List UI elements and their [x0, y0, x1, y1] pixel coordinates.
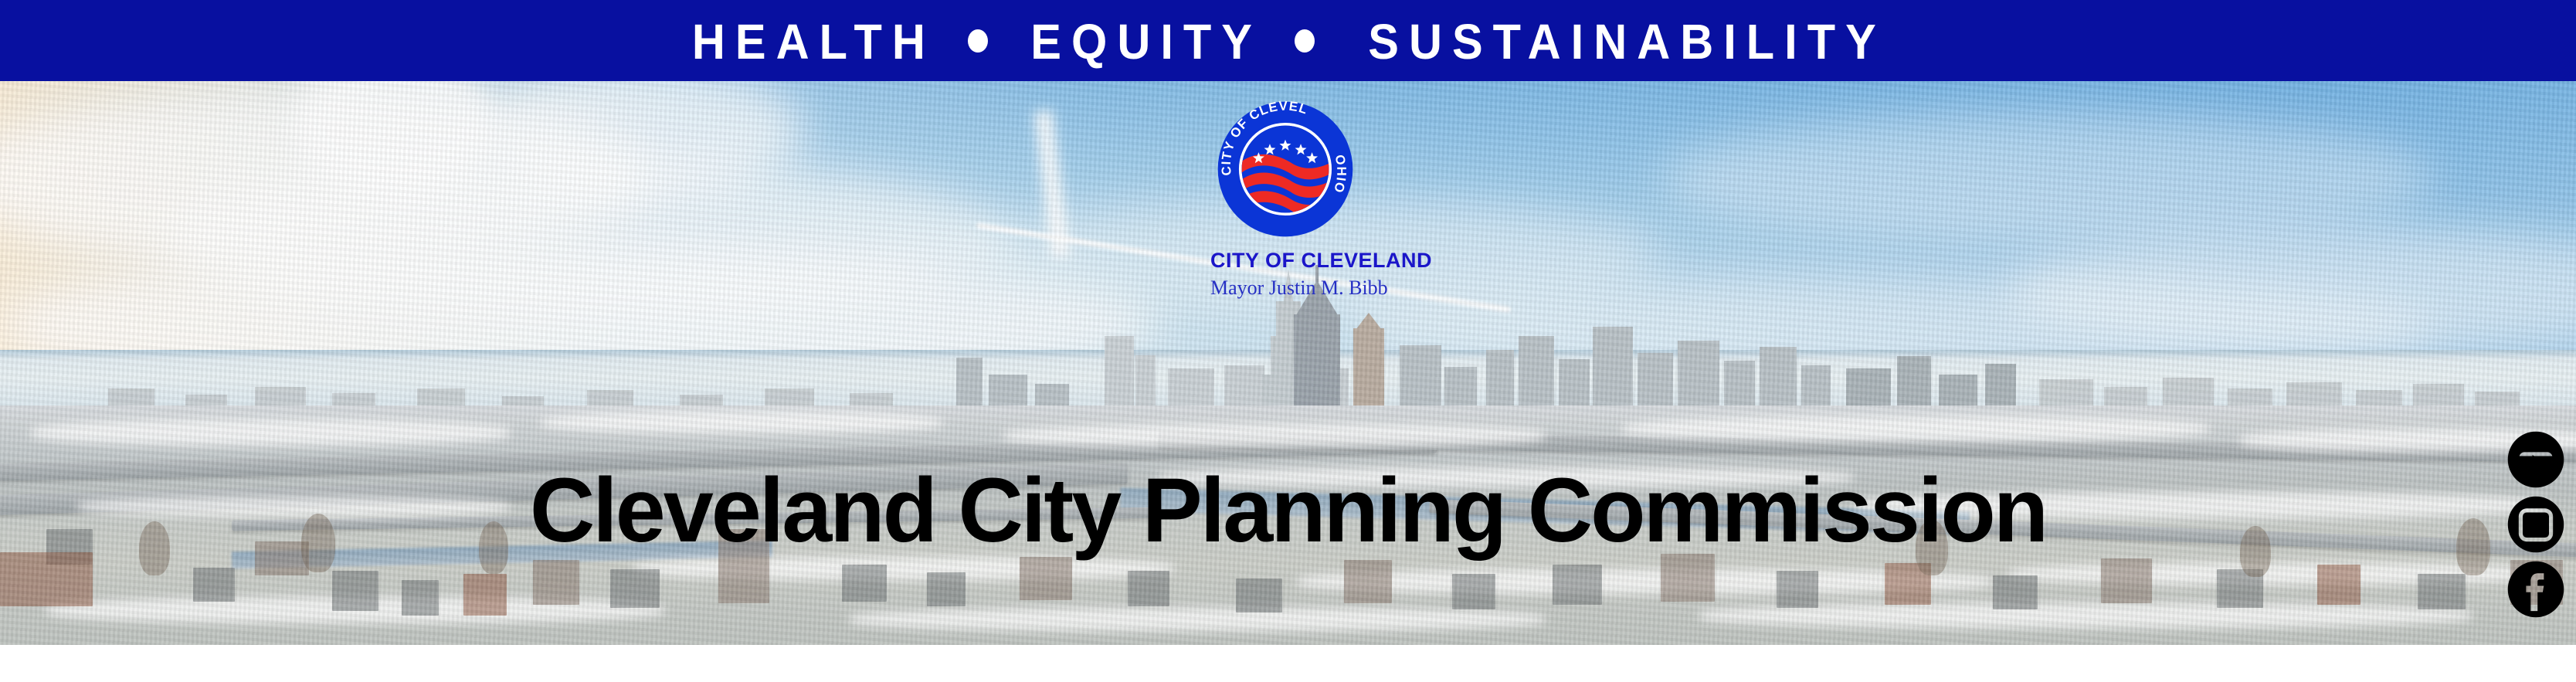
instagram-icon[interactable]	[2507, 496, 2564, 553]
tagline-word-sustainability: SUSTAINABILITY	[1368, 15, 1886, 66]
organization-name: CITY OF CLEVELAND	[1210, 249, 1351, 273]
tagline-inner: HEALTH EQUITY SUSTAINABILITY	[683, 15, 1905, 66]
hero-photo: CITY OF CLEVELAND OHIO CITY OF CLEVELAND…	[0, 81, 2576, 645]
facebook-icon[interactable]	[2507, 561, 2564, 618]
tagline-word-equity: EQUITY	[1031, 15, 1263, 66]
city-of-cleveland-seal-icon: CITY OF CLEVELAND OHIO	[1215, 99, 1356, 239]
city-branding: CITY OF CLEVELAND OHIO CITY OF CLEVELAND…	[1215, 99, 1356, 300]
bottom-white-band	[0, 645, 2576, 682]
youtube-icon[interactable]	[2507, 431, 2564, 488]
page-title: Cleveland City Planning Commission	[13, 465, 2564, 556]
mayor-name: Mayor Justin M. Bibb	[1210, 277, 1351, 300]
tagline-bar: HEALTH EQUITY SUSTAINABILITY	[0, 0, 2576, 81]
bullet-dot-icon	[1295, 29, 1315, 53]
bullet-dot-icon	[968, 29, 988, 53]
tagline-word-health: HEALTH	[692, 15, 935, 66]
social-links	[2505, 431, 2567, 618]
